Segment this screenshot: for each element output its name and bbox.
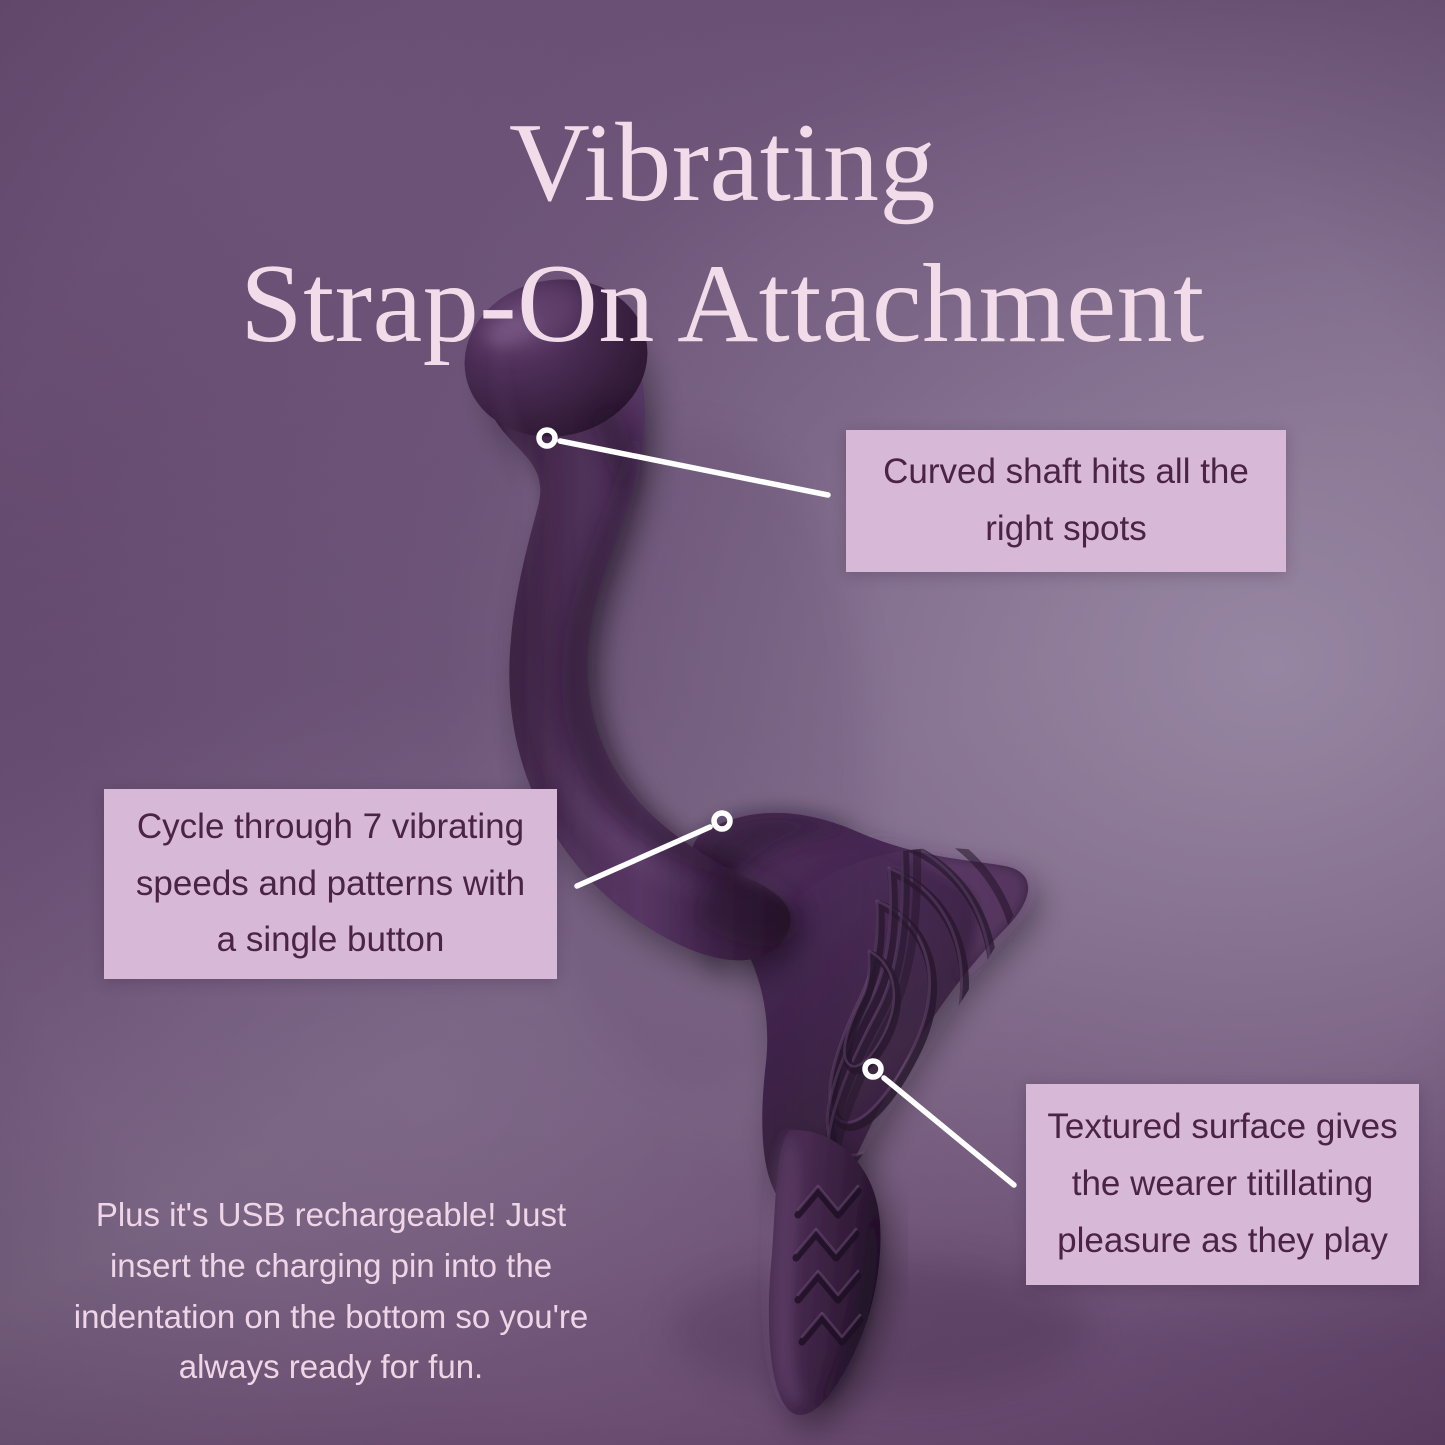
callout-line: pleasure as they play: [1057, 1221, 1388, 1260]
callout-line: the wearer titillating: [1072, 1164, 1374, 1203]
footnote-line: Plus it's USB rechargeable! Just: [96, 1196, 566, 1233]
callout-line: Curved shaft hits all the: [883, 452, 1249, 491]
callout-curved-shaft-text: Curved shaft hits all the right spots: [865, 444, 1267, 557]
footnote-line: indentation on the bottom so you're: [74, 1298, 588, 1335]
callout-textured-surface: Textured surface gives the wearer titill…: [1026, 1084, 1419, 1285]
callout-seven-speeds-text: Cycle through 7 vibrating speeds and pat…: [118, 799, 543, 969]
callout-line: right spots: [985, 509, 1146, 548]
title-line-2: Strap-On Attachment: [0, 234, 1445, 375]
callout-textured-surface-text: Textured surface gives the wearer titill…: [1029, 1099, 1415, 1269]
page-title: Vibrating Strap-On Attachment: [0, 93, 1445, 375]
callout-curved-shaft: Curved shaft hits all the right spots: [846, 430, 1286, 572]
callout-line: a single button: [217, 920, 445, 959]
title-line-1: Vibrating: [0, 93, 1445, 234]
footnote-line: insert the charging pin into the: [110, 1247, 552, 1284]
footnote-line: always ready for fun.: [179, 1348, 483, 1385]
footnote-text: Plus it's USB rechargeable! Just insert …: [58, 1190, 604, 1393]
callout-line: Cycle through 7 vibrating: [137, 807, 524, 846]
callout-line: Textured surface gives: [1047, 1107, 1397, 1146]
footnote-usb-rechargeable: Plus it's USB rechargeable! Just insert …: [58, 1190, 604, 1393]
callout-seven-speeds: Cycle through 7 vibrating speeds and pat…: [104, 789, 557, 979]
infographic-canvas: Vibrating Strap-On Attachment Curved sha…: [0, 0, 1445, 1445]
callout-line: speeds and patterns with: [136, 864, 525, 903]
